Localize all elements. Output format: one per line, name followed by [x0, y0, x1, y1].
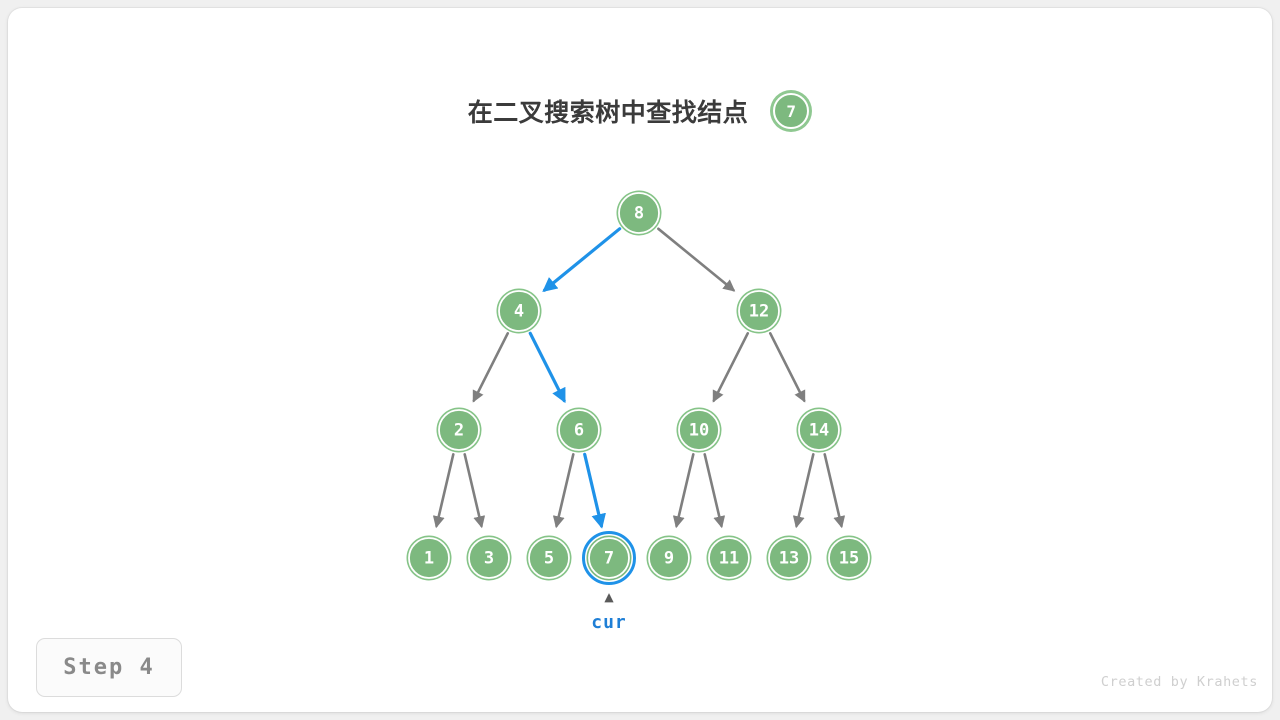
tree-node-value: 3 [484, 549, 494, 569]
tree-node-value: 4 [514, 302, 524, 322]
tree-node[interactable]: 3 [467, 536, 512, 581]
tree-edge [530, 333, 564, 400]
tree-edge [545, 229, 620, 290]
slide-card: 在二叉搜索树中查找结点 7 84122610141357911131 [8, 8, 1272, 712]
tree-node-value: 8 [634, 204, 644, 224]
step-indicator-label: Step 4 [63, 655, 154, 680]
tree-node[interactable]: 5 [527, 536, 572, 581]
tree-node-value: 10 [689, 421, 709, 441]
tree-node[interactable]: 8 [617, 191, 662, 236]
tree-node[interactable]: 14 [797, 408, 842, 453]
tree-node-value: 6 [574, 421, 584, 441]
tree-edge [474, 333, 508, 400]
tree-node-value: 13 [779, 549, 799, 569]
tree-node-value: 12 [749, 302, 769, 322]
tree-edge [658, 229, 733, 290]
slide-stage: 在二叉搜索树中查找结点 7 84122610141357911131 [8, 8, 1272, 712]
tree-nodes: 841226101413579111315 [407, 191, 872, 584]
tree-node-value: 7 [604, 549, 614, 569]
tree-node-value: 1 [424, 549, 434, 569]
tree-edge [585, 454, 602, 526]
tree-node-value: 14 [809, 421, 829, 441]
tree-edge [677, 454, 694, 526]
binary-search-tree-diagram: 841226101413579111315 [8, 8, 1272, 712]
tree-edge [705, 454, 722, 526]
tree-node-value: 15 [839, 549, 859, 569]
tree-node[interactable]: 10 [677, 408, 722, 453]
tree-node[interactable]: 1 [407, 536, 452, 581]
tree-node[interactable]: 13 [767, 536, 812, 581]
cur-pointer-label: cur [560, 612, 658, 633]
tree-node-value: 11 [719, 549, 739, 569]
tree-node[interactable]: 15 [827, 536, 872, 581]
tree-edge [437, 454, 454, 526]
tree-edge [714, 333, 748, 400]
tree-node[interactable]: 6 [557, 408, 602, 453]
tree-node-value: 2 [454, 421, 464, 441]
tree-edge [557, 454, 574, 526]
step-indicator: Step 4 [36, 638, 182, 697]
tree-node[interactable]: 12 [737, 289, 782, 334]
tree-edge [770, 333, 804, 400]
tree-node-value: 5 [544, 549, 554, 569]
tree-node[interactable]: 9 [647, 536, 692, 581]
tree-node[interactable]: 2 [437, 408, 482, 453]
tree-node-value: 9 [664, 549, 674, 569]
tree-edge [465, 454, 482, 526]
tree-node[interactable]: 7 [584, 533, 635, 584]
tree-edge [825, 454, 842, 526]
tree-edge [797, 454, 814, 526]
tree-node[interactable]: 11 [707, 536, 752, 581]
credit-text: Created by Krahets [1101, 674, 1258, 690]
tree-edges [437, 229, 842, 526]
tree-node[interactable]: 4 [497, 289, 542, 334]
